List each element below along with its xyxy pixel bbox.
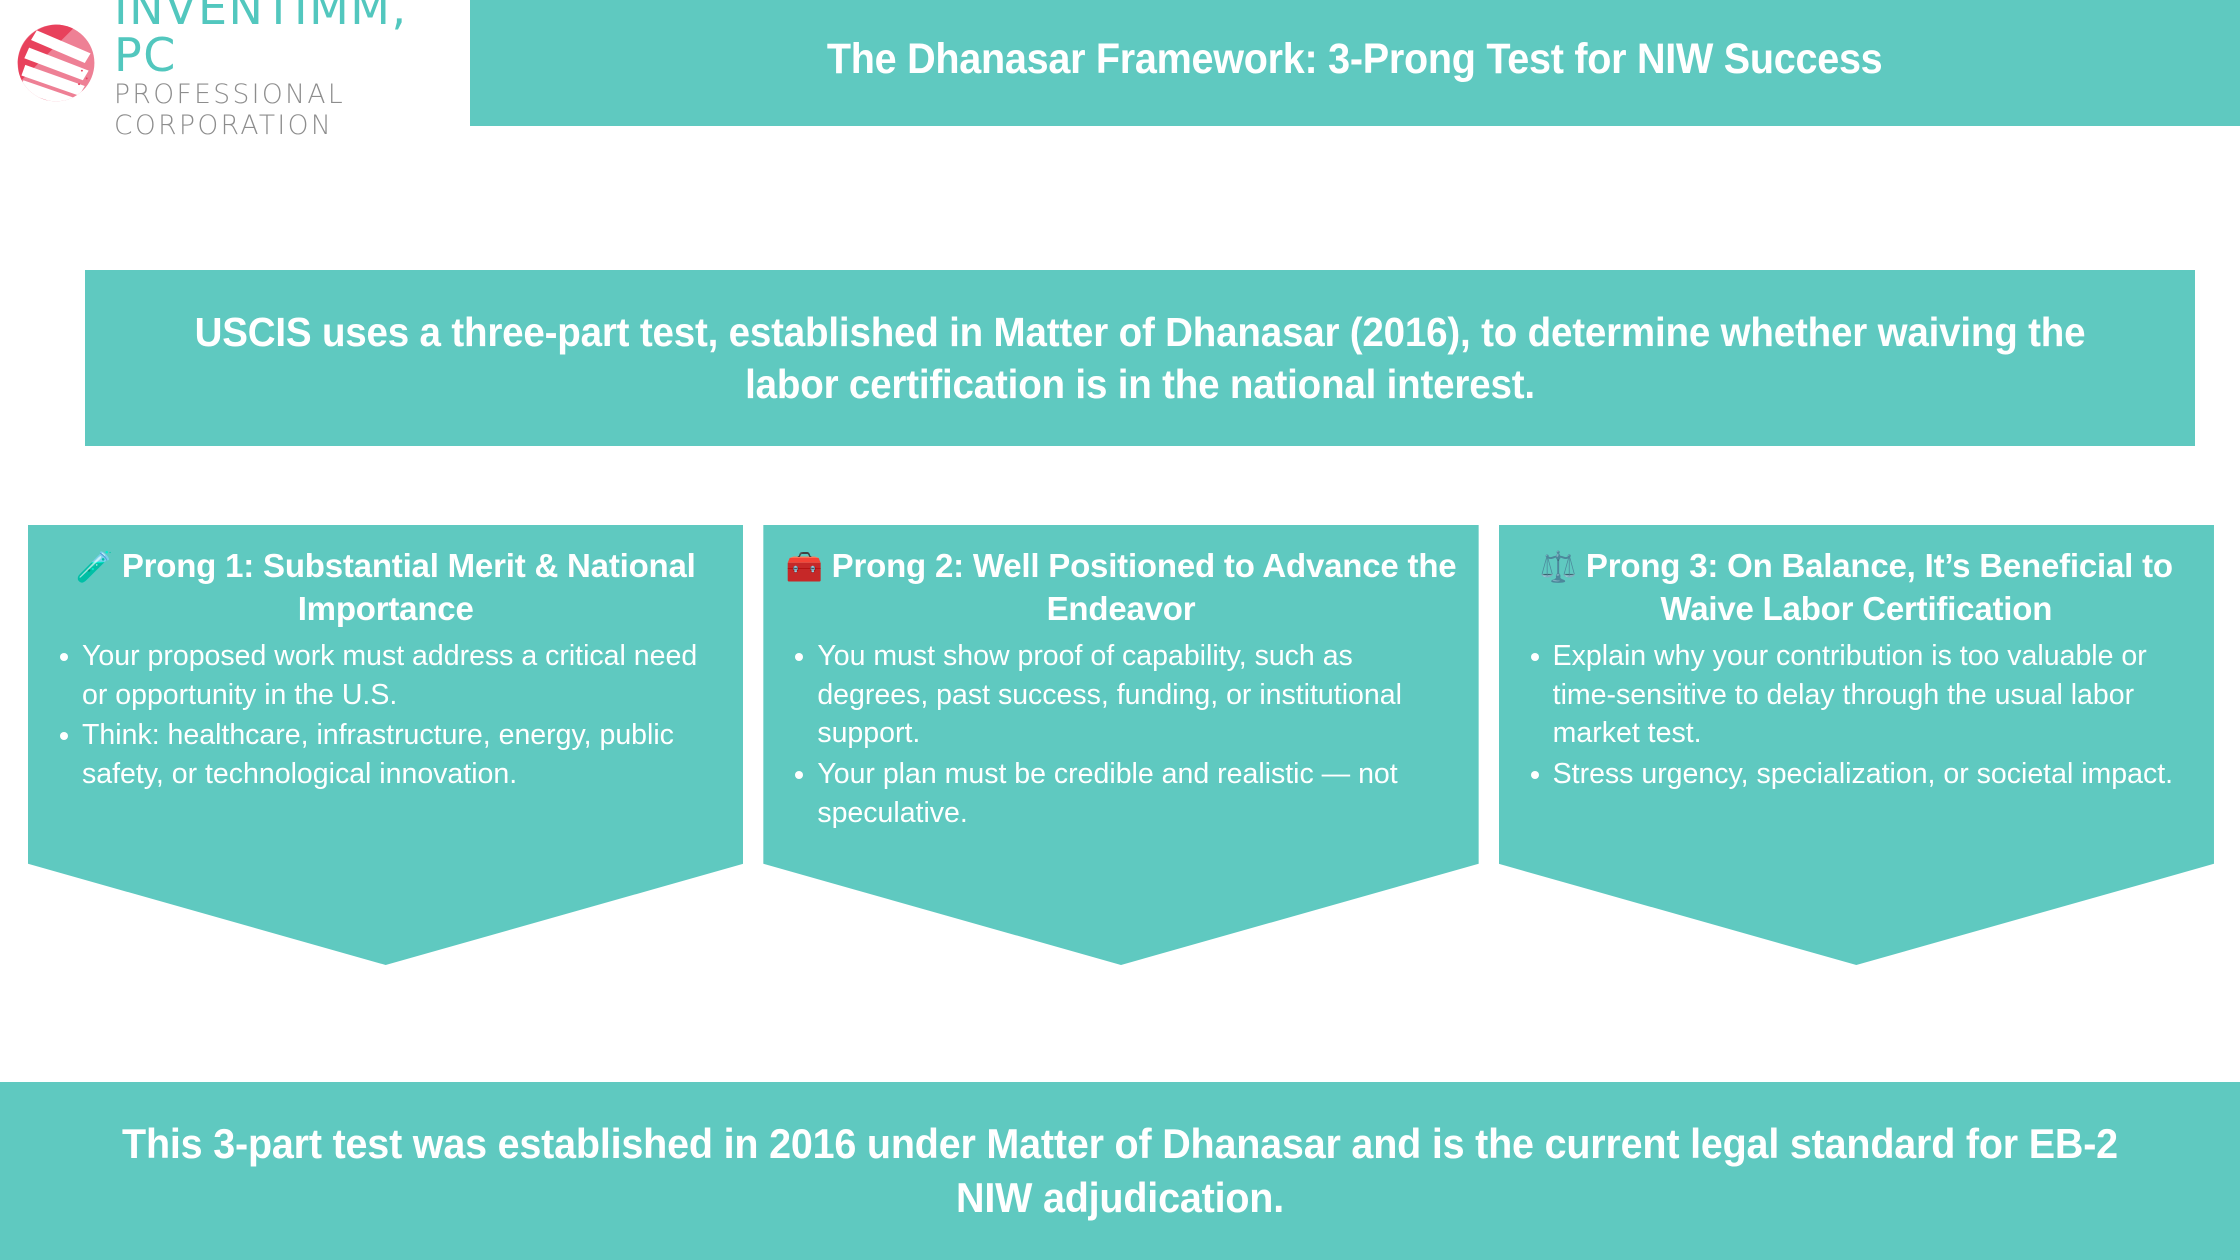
- bullet-icon: [60, 653, 68, 661]
- list-item-text: Explain why your contribution is too val…: [1553, 640, 2147, 750]
- brand-wordmark: INVENTIMM, PC PROFESSIONAL CORPORATION: [114, 0, 470, 141]
- list-item-text: Your plan must be credible and realistic…: [817, 758, 1397, 829]
- brand-name: INVENTIMM, PC: [114, 0, 470, 78]
- page-header: INVENTIMM, PC PROFESSIONAL CORPORATION T…: [0, 0, 2240, 126]
- prong-card-2-title-text: Prong 2: Well Positioned to Advance the …: [832, 547, 1457, 627]
- brand-subtitle: PROFESSIONAL CORPORATION: [114, 80, 470, 141]
- bullet-icon: [1531, 653, 1539, 661]
- footer-banner: This 3-part test was established in 2016…: [0, 1082, 2240, 1260]
- balance-scale-icon: ⚖️: [1540, 550, 1577, 585]
- header-title-bar: The Dhanasar Framework: 3-Prong Test for…: [470, 0, 2240, 126]
- prong-card-1-title-text: Prong 1: Substantial Merit & National Im…: [122, 547, 696, 627]
- list-item-text: Your proposed work must address a critic…: [82, 640, 697, 711]
- prong-card-1-title: 🧪 Prong 1: Substantial Merit & National …: [50, 545, 721, 631]
- list-item-text: You must show proof of capability, such …: [817, 640, 1402, 750]
- list-item: Your proposed work must address a critic…: [50, 637, 721, 715]
- test-tube-icon: 🧪: [76, 550, 113, 585]
- prong-cards-row: 🧪 Prong 1: Substantial Merit & National …: [28, 525, 2214, 965]
- list-item: You must show proof of capability, such …: [785, 637, 1456, 753]
- toolbox-icon: 🧰: [786, 550, 823, 585]
- list-item: Explain why your contribution is too val…: [1521, 637, 2192, 753]
- footer-text: This 3-part test was established in 2016…: [99, 1117, 2141, 1225]
- inventimm-circular-swoosh-logo: [8, 15, 104, 111]
- list-item: Stress urgency, specialization, or socie…: [1521, 755, 2192, 794]
- page-title: The Dhanasar Framework: 3-Prong Test for…: [827, 35, 1883, 84]
- intro-text: USCIS uses a three-part test, establishe…: [186, 306, 2094, 411]
- brand-block: INVENTIMM, PC PROFESSIONAL CORPORATION: [0, 0, 470, 126]
- prong-card-3-list: Explain why your contribution is too val…: [1521, 637, 2192, 794]
- intro-banner: USCIS uses a three-part test, establishe…: [85, 270, 2195, 446]
- prong-card-2-list: You must show proof of capability, such …: [785, 637, 1456, 833]
- list-item-text: Stress urgency, specialization, or socie…: [1553, 758, 2173, 790]
- list-item: Think: healthcare, infrastructure, energ…: [50, 716, 721, 794]
- list-item-text: Think: healthcare, infrastructure, energ…: [82, 719, 674, 790]
- prong-card-3-title: ⚖️ Prong 3: On Balance, It’s Beneficial …: [1521, 545, 2192, 631]
- bullet-icon: [795, 771, 803, 779]
- bullet-icon: [60, 732, 68, 740]
- prong-card-3-title-text: Prong 3: On Balance, It’s Beneficial to …: [1586, 547, 2173, 627]
- prong-card-2: 🧰 Prong 2: Well Positioned to Advance th…: [763, 525, 1478, 965]
- prong-card-1: 🧪 Prong 1: Substantial Merit & National …: [28, 525, 743, 965]
- bullet-icon: [795, 653, 803, 661]
- list-item: Your plan must be credible and realistic…: [785, 755, 1456, 833]
- prong-card-1-list: Your proposed work must address a critic…: [50, 637, 721, 794]
- bullet-icon: [1531, 771, 1539, 779]
- prong-card-2-title: 🧰 Prong 2: Well Positioned to Advance th…: [785, 545, 1456, 631]
- prong-card-3: ⚖️ Prong 3: On Balance, It’s Beneficial …: [1499, 525, 2214, 965]
